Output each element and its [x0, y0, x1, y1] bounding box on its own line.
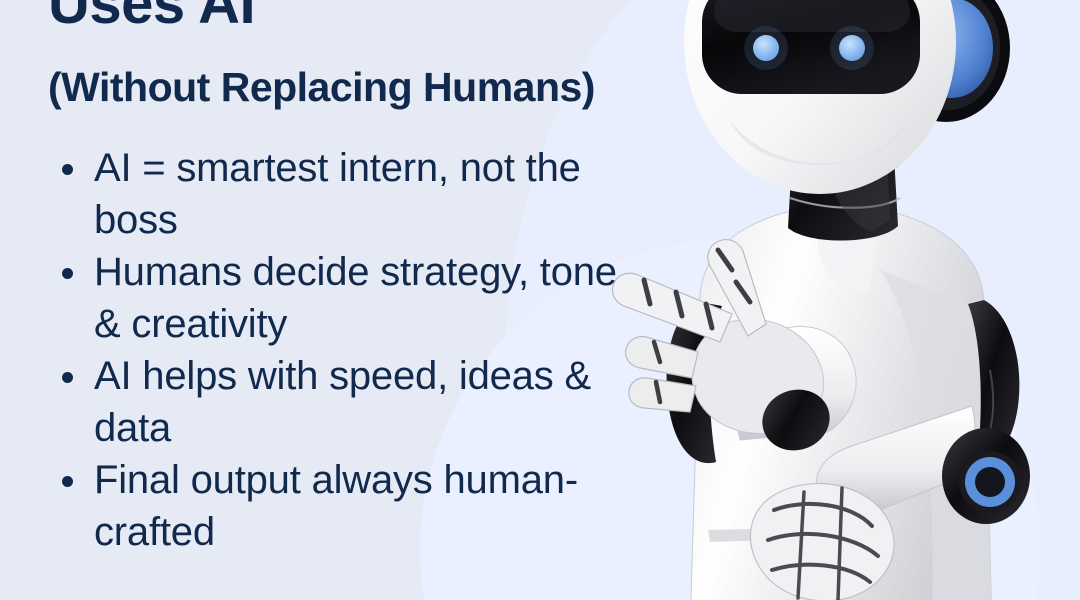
list-item: Humans decide strategy, tone & creativit… [48, 246, 648, 350]
page-subtitle: (Without Replacing Humans) [48, 64, 710, 110]
list-item: Final output always human-crafted [48, 454, 648, 558]
text-column: Uses AI (Without Replacing Humans) AI = … [0, 0, 710, 600]
slide-canvas: Uses AI (Without Replacing Humans) AI = … [0, 0, 1080, 600]
list-item: AI = smartest intern, not the boss [48, 142, 648, 246]
page-title: Uses AI [48, 0, 710, 34]
list-item: AI helps with speed, ideas & data [48, 350, 648, 454]
bullet-list: AI = smartest intern, not the boss Human… [48, 142, 710, 558]
